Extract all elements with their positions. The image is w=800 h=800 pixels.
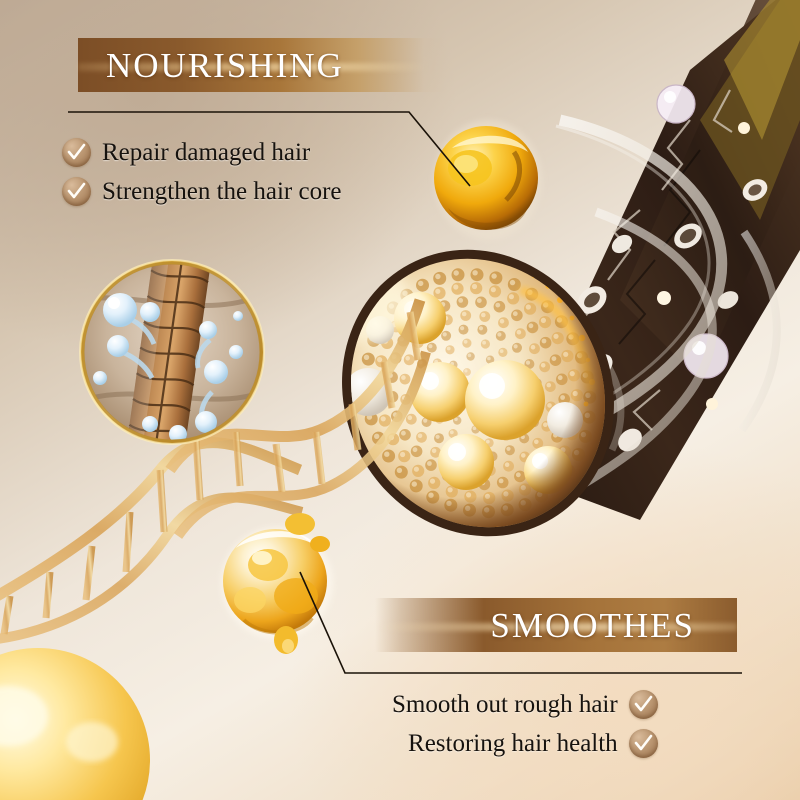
- infographic-canvas: NOURISHING Repair damaged hair Strengthe…: [0, 0, 800, 800]
- benefit-list-nourishing: Repair damaged hair Strengthen the hair …: [62, 138, 342, 216]
- moisture-molecules: [93, 293, 243, 443]
- gold-sphere-corner: [0, 648, 150, 800]
- hair-cuticle-inset: [80, 247, 264, 463]
- hair-core-cross-section: [292, 202, 664, 585]
- oil-capsule-bottom: [221, 513, 333, 654]
- section-heading-smoothes: SMOOTHES: [375, 598, 737, 652]
- list-item: Repair damaged hair: [62, 138, 342, 167]
- ribbon-swirls: [505, 120, 777, 520]
- heading-text-nourishing: NOURISHING: [106, 48, 344, 83]
- artwork-svg: [0, 0, 800, 800]
- crystal-bubbles: [657, 85, 728, 378]
- check-icon: [62, 138, 91, 167]
- list-item: Strengthen the hair core: [62, 177, 342, 206]
- check-icon: [629, 690, 658, 719]
- benefit-label: Strengthen the hair core: [102, 178, 342, 206]
- benefit-label: Smooth out rough hair: [392, 691, 618, 719]
- section-heading-nourishing: NOURISHING: [78, 38, 446, 92]
- hair-strand-dark: [505, 0, 800, 520]
- benefit-list-smoothes: Smooth out rough hair Restoring hair hea…: [392, 690, 658, 768]
- benefit-label: Repair damaged hair: [102, 139, 310, 167]
- list-item: Restoring hair health: [392, 729, 658, 758]
- cortex-dots: [360, 268, 597, 518]
- heading-text-smoothes: SMOOTHES: [490, 608, 695, 643]
- oil-droplet-top: [434, 120, 542, 240]
- check-icon: [62, 177, 91, 206]
- check-icon: [629, 729, 658, 758]
- dna-helix: [0, 300, 426, 640]
- cuticle-flakes: [572, 122, 771, 456]
- benefit-label: Restoring hair health: [408, 730, 618, 758]
- list-item: Smooth out rough hair: [392, 690, 658, 719]
- artwork-layer: [0, 0, 800, 800]
